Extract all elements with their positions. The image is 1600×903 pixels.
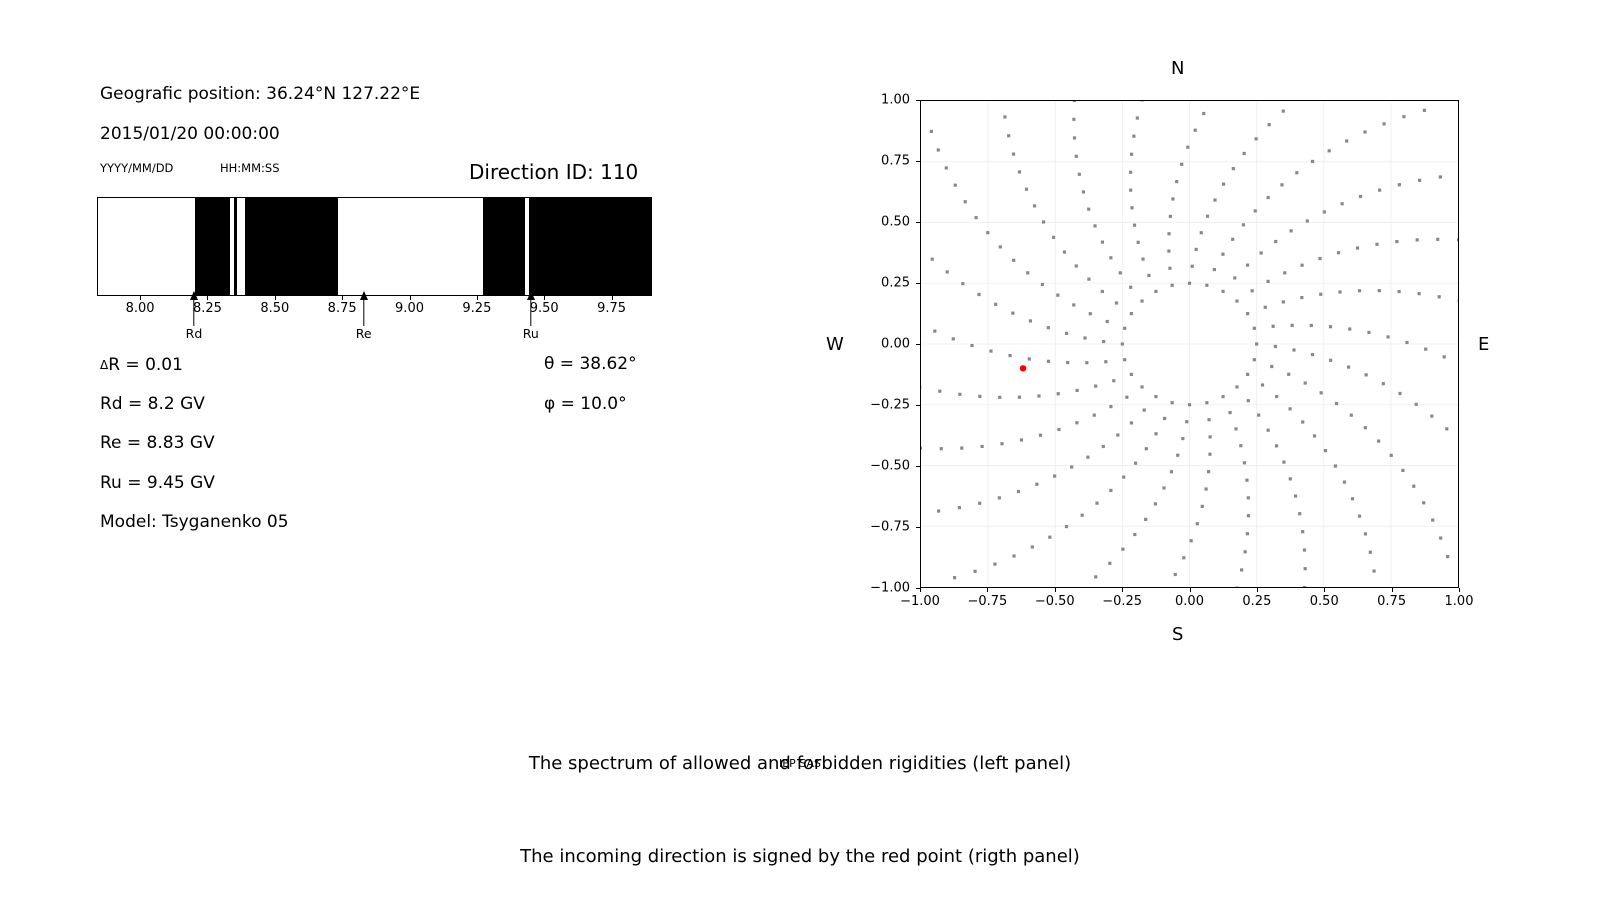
direction-point [1358, 514, 1361, 517]
direction-point [1072, 118, 1075, 121]
direction-point [1367, 331, 1370, 334]
direction-point [1436, 238, 1439, 241]
x-axis-tick-label: 0.25 [1222, 594, 1292, 609]
direction-point [1109, 489, 1112, 492]
direction-point [1311, 353, 1314, 356]
direction-point [1132, 135, 1135, 138]
direction-point [1221, 395, 1224, 398]
direction-point [1154, 395, 1157, 398]
direction-point [1018, 396, 1021, 399]
direction-point [1167, 232, 1170, 235]
direction-point [1418, 292, 1421, 295]
direction-point [1267, 429, 1270, 432]
direction-point [1048, 536, 1051, 539]
direction-point [1081, 514, 1084, 517]
direction-point [1313, 434, 1316, 437]
direction-point [1443, 355, 1446, 358]
direction-point [1329, 325, 1332, 328]
direction-point [980, 445, 983, 448]
direction-point [1075, 421, 1078, 424]
direction-point [1133, 224, 1136, 227]
arrow-head-icon [360, 291, 368, 300]
direction-point [1382, 382, 1385, 385]
y-axis-tick-label: 0.00 [848, 337, 910, 352]
direction-point [1065, 332, 1068, 335]
direction-point [1445, 427, 1448, 430]
direction-point [1171, 401, 1174, 404]
direction-point [1170, 470, 1173, 473]
direction-point [1382, 122, 1385, 125]
direction-point [1093, 224, 1096, 227]
direction-point [1292, 348, 1295, 351]
direction-point [1123, 327, 1126, 330]
direction-point [1402, 115, 1405, 118]
direction-point [1438, 295, 1441, 298]
forbidden-band [529, 198, 652, 295]
direction-point [1201, 505, 1204, 508]
y-axis-tick-label: 0.75 [848, 154, 910, 169]
direction-point [1137, 241, 1140, 244]
direction-point [1234, 427, 1237, 430]
direction-point [1087, 278, 1090, 281]
direction-point [945, 166, 948, 169]
direction-point [1134, 462, 1137, 465]
direction-id-label: Direction ID: 110 [469, 160, 638, 184]
spectrum-tick-label: 9.00 [395, 301, 424, 316]
direction-point [1141, 257, 1144, 260]
direction-point [946, 270, 949, 273]
direction-point [1101, 290, 1104, 293]
direction-point [1424, 348, 1427, 351]
spectrum-tick [410, 296, 411, 300]
direction-point [970, 344, 973, 347]
direction-point [1247, 399, 1250, 402]
direction-plot-area [920, 100, 1459, 588]
direction-point [1235, 385, 1238, 388]
direction-point [1264, 306, 1267, 309]
y-axis-tick-label: −0.25 [848, 398, 910, 413]
spectrum-plot-area [97, 197, 652, 296]
direction-point [1405, 341, 1408, 344]
direction-point [1358, 289, 1361, 292]
direction-point [1196, 522, 1199, 525]
direction-point [1306, 219, 1309, 222]
direction-point [1294, 494, 1297, 497]
direction-point [1334, 464, 1337, 467]
x-axis-tick [1257, 588, 1258, 592]
compass-west-label: W [826, 334, 844, 355]
direction-point [1078, 173, 1081, 176]
x-axis-tick-label: −0.50 [1020, 594, 1090, 609]
figure-caption: The spectrum of allowed and forbidden ri… [0, 686, 1600, 903]
direction-point [1047, 360, 1050, 363]
direction-point [1430, 415, 1433, 418]
direction-point [978, 502, 981, 505]
direction-point [1109, 405, 1112, 408]
direction-point [1319, 293, 1322, 296]
direction-point [1041, 283, 1044, 286]
direction-point [1329, 359, 1332, 362]
direction-point [1012, 152, 1015, 155]
x-axis-tick-label: 0.75 [1357, 594, 1427, 609]
direction-point [1291, 324, 1294, 327]
direction-point [1289, 407, 1292, 410]
direction-point [1122, 475, 1125, 478]
direction-point [1129, 189, 1132, 192]
direction-point [1343, 481, 1346, 484]
arrow-head-icon [527, 291, 535, 300]
direction-point [1254, 209, 1257, 212]
direction-point [1363, 130, 1366, 133]
direction-point [1037, 394, 1040, 397]
direction-point [938, 390, 941, 393]
direction-point [1246, 373, 1249, 376]
direction-point [1167, 249, 1170, 252]
direction-point [1174, 573, 1177, 576]
direction-point [937, 148, 940, 151]
direction-point [1186, 146, 1189, 149]
direction-point [1086, 456, 1089, 459]
geographic-position-label: Geografic position: 36.24°N 127.22°E [100, 84, 420, 104]
y-axis-tick-label: −0.50 [848, 459, 910, 474]
direction-point [1162, 486, 1165, 489]
direction-point [1130, 373, 1133, 376]
x-axis-tick [1392, 588, 1393, 592]
direction-point [1075, 155, 1078, 158]
direction-point [1246, 532, 1249, 535]
forbidden-band [483, 198, 525, 295]
direction-point [1073, 136, 1076, 139]
spectrum-tick-label: 8.75 [328, 301, 357, 316]
direction-point [998, 496, 1001, 499]
direction-point [1039, 434, 1042, 437]
direction-point [993, 563, 996, 566]
direction-point [1233, 276, 1236, 279]
direction-point [1085, 361, 1088, 364]
y-axis-tick [916, 161, 920, 162]
direction-point [921, 447, 922, 450]
direction-point [1275, 444, 1278, 447]
y-axis-tick-label: 1.00 [848, 93, 910, 108]
direction-point [1017, 490, 1020, 493]
direction-point [1267, 196, 1270, 199]
direction-point [1341, 202, 1344, 205]
direction-point [1101, 241, 1104, 244]
x-axis-tick [1055, 588, 1056, 592]
direction-point [952, 337, 955, 340]
y-axis-tick [916, 222, 920, 223]
direction-point [1181, 437, 1184, 440]
direction-point [960, 446, 963, 449]
direction-point [1188, 403, 1191, 406]
compass-north-label: N [1171, 58, 1184, 79]
delta-symbol: Δ [100, 358, 108, 372]
direction-point [1253, 358, 1256, 361]
direction-point [1439, 175, 1442, 178]
direction-point [1301, 530, 1304, 533]
direction-point [1348, 327, 1351, 330]
direction-point [1300, 264, 1303, 267]
direction-point [953, 576, 956, 579]
x-axis-tick [1190, 588, 1191, 592]
rigidity-spectrum-chart [97, 197, 652, 296]
direction-point [1231, 238, 1234, 241]
y-axis-tick-label: −0.75 [848, 520, 910, 535]
direction-point [1012, 259, 1015, 262]
direction-point [1031, 545, 1034, 548]
direction-point [1042, 220, 1045, 223]
direction-point [1182, 556, 1185, 559]
direction-point [1398, 290, 1401, 293]
spectrum-tick-label: 8.25 [193, 301, 222, 316]
rigidity-spectrum-panel: Geografic position: 36.24°N 127.22°E 201… [0, 0, 800, 800]
direction-point [1364, 426, 1367, 429]
x-axis-tick-label: 0.50 [1289, 594, 1359, 609]
direction-point [1350, 414, 1353, 417]
param-model: Model: Tsyganenko 05 [100, 512, 289, 532]
direction-point [1202, 112, 1205, 115]
direction-point [1255, 137, 1258, 140]
direction-point [1206, 215, 1209, 218]
direction-point [1431, 518, 1434, 521]
direction-point [1053, 474, 1056, 477]
direction-point [1012, 554, 1015, 557]
direction-point [1239, 444, 1242, 447]
direction-point [1083, 336, 1086, 339]
direction-point [1176, 454, 1179, 457]
spectrum-tick [207, 296, 208, 300]
direction-point [986, 231, 989, 234]
direction-point [1018, 170, 1021, 173]
direction-point [1335, 402, 1338, 405]
direction-point [1243, 152, 1246, 155]
x-axis-tick-label: −0.25 [1087, 594, 1157, 609]
direction-point [1065, 525, 1068, 528]
direction-point [1246, 312, 1249, 315]
direction-point [1089, 312, 1092, 315]
direction-point [1268, 123, 1271, 126]
x-axis-tick [920, 588, 921, 592]
direction-point [1213, 198, 1216, 201]
spectrum-tick [140, 296, 141, 300]
direction-point [1123, 358, 1126, 361]
direction-point [1356, 246, 1359, 249]
direction-point [1347, 365, 1350, 368]
direction-point [1323, 210, 1326, 213]
direction-point [1125, 396, 1128, 399]
direction-point [1221, 290, 1224, 293]
param-delta-r: ΔR = 0.01 [100, 355, 183, 375]
direction-point [1207, 470, 1210, 473]
direction-point [1180, 163, 1183, 166]
direction-point [1246, 264, 1249, 267]
direction-point [1364, 532, 1367, 535]
direction-point [1272, 325, 1275, 328]
direction-point [1130, 206, 1133, 209]
direction-point [1119, 271, 1122, 274]
direction-point [964, 200, 967, 203]
direction-point [1375, 243, 1378, 246]
direction-point [1446, 555, 1449, 558]
y-axis-tick [916, 405, 920, 406]
direction-point [1136, 116, 1139, 119]
direction-point [1109, 256, 1112, 259]
direction-point [977, 293, 980, 296]
direction-point [1115, 301, 1118, 304]
direction-point [1028, 357, 1031, 360]
direction-point [1116, 433, 1119, 436]
direction-point [1208, 453, 1211, 456]
direction-point [1365, 373, 1368, 376]
forbidden-band [234, 198, 237, 295]
direction-point [1169, 215, 1172, 218]
direction-point [961, 282, 964, 285]
marker-label: Ru [523, 326, 539, 341]
y-axis-tick-label: 0.50 [848, 215, 910, 230]
direction-point [1378, 289, 1381, 292]
direction-point [1082, 190, 1085, 193]
direction-map-panel: −1.00−0.75−0.50−0.250.000.250.500.751.00… [800, 0, 1600, 800]
direction-point [1328, 149, 1331, 152]
direction-point [1035, 483, 1038, 486]
direction-point [994, 303, 997, 306]
direction-point [1076, 389, 1079, 392]
direction-point [1154, 432, 1157, 435]
direction-point [1401, 469, 1404, 472]
spectrum-tick-label: 8.50 [260, 301, 289, 316]
x-axis-tick [1459, 588, 1460, 592]
direction-scatter-canvas [921, 101, 1458, 587]
direction-point [1106, 320, 1109, 323]
direction-point [1372, 569, 1375, 572]
direction-point [1011, 312, 1014, 315]
direction-point [1102, 340, 1105, 343]
direction-point [1310, 324, 1313, 327]
direction-point [1304, 567, 1307, 570]
marker-label: Rd [186, 326, 203, 341]
direction-point [958, 506, 961, 509]
direction-point [1398, 183, 1401, 186]
direction-point [1087, 208, 1090, 211]
x-axis-tick-label: 0.00 [1155, 594, 1225, 609]
direction-point [1369, 551, 1372, 554]
direction-point [1130, 421, 1133, 424]
direction-point [1311, 160, 1314, 163]
param-phi: φ = 10.0° [544, 394, 627, 414]
direction-point [1416, 238, 1419, 241]
direction-point [1163, 417, 1166, 420]
direction-point [1204, 487, 1207, 490]
direction-point [1129, 171, 1132, 174]
direction-point [1303, 586, 1306, 587]
y-axis-tick [916, 466, 920, 467]
direction-point [1418, 179, 1421, 182]
compass-south-label: S [1172, 624, 1183, 645]
direction-point [1144, 518, 1147, 521]
direction-point [1320, 391, 1323, 394]
direction-point [1247, 514, 1250, 517]
y-axis-tick [916, 344, 920, 345]
direction-point [1020, 438, 1023, 441]
direction-point [1439, 536, 1442, 539]
direction-point [940, 447, 943, 450]
direction-point [931, 258, 934, 261]
direction-point [1200, 231, 1203, 234]
direction-point [1070, 465, 1073, 468]
direction-point [1003, 115, 1006, 118]
spectrum-tick [477, 296, 478, 300]
direction-point [1398, 392, 1401, 395]
spectrum-tick [544, 296, 545, 300]
direction-point [1221, 253, 1224, 256]
direction-point [1047, 326, 1050, 329]
direction-point [937, 509, 940, 512]
direction-point [1351, 497, 1354, 500]
direction-point [1066, 361, 1069, 364]
x-axis-tick [1324, 588, 1325, 592]
direction-point [1304, 381, 1307, 384]
direction-point [954, 184, 957, 187]
direction-point [1094, 575, 1097, 578]
direction-point [1130, 153, 1133, 156]
direction-point [1415, 403, 1418, 406]
direction-point [1242, 223, 1245, 226]
x-axis-tick-label: −1.00 [885, 594, 955, 609]
direction-point [1194, 129, 1197, 132]
direction-point [1121, 548, 1124, 551]
direction-point [1245, 479, 1248, 482]
direction-point [1412, 485, 1415, 488]
direction-point [1025, 188, 1028, 191]
spectrum-tick [612, 296, 613, 300]
direction-point [999, 245, 1002, 248]
direction-point [1247, 496, 1250, 499]
direction-point [1095, 502, 1098, 505]
direction-point [1112, 379, 1115, 382]
direction-point [1188, 282, 1191, 285]
spectrum-tick [275, 296, 276, 300]
direction-point [1235, 299, 1238, 302]
direction-point [1275, 395, 1278, 398]
param-ru: Ru = 9.45 GV [100, 473, 215, 493]
direction-point [1063, 250, 1066, 253]
direction-point [1267, 280, 1270, 283]
direction-point [1270, 365, 1273, 368]
direction-point [1190, 539, 1193, 542]
direction-point [1007, 134, 1010, 137]
direction-point [1129, 286, 1132, 289]
direction-point [1073, 101, 1076, 102]
direction-point [1057, 428, 1060, 431]
compass-east-label: E [1478, 334, 1489, 355]
arrow-head-icon [190, 291, 198, 300]
direction-point [1289, 477, 1292, 480]
direction-point [1243, 461, 1246, 464]
direction-point [1145, 447, 1148, 450]
direction-point [1104, 360, 1107, 363]
direction-point [1072, 303, 1075, 306]
direction-point [1075, 264, 1078, 267]
param-theta: θ = 38.62° [544, 354, 637, 374]
direction-point [1130, 312, 1133, 315]
direction-point [1228, 411, 1231, 414]
direction-point [1244, 550, 1247, 553]
spectrum-tick-label: 9.75 [597, 301, 626, 316]
direction-point [1280, 183, 1283, 186]
x-axis-tick-label: −0.75 [952, 594, 1022, 609]
direction-point [930, 130, 933, 133]
direction-point [1195, 248, 1198, 251]
